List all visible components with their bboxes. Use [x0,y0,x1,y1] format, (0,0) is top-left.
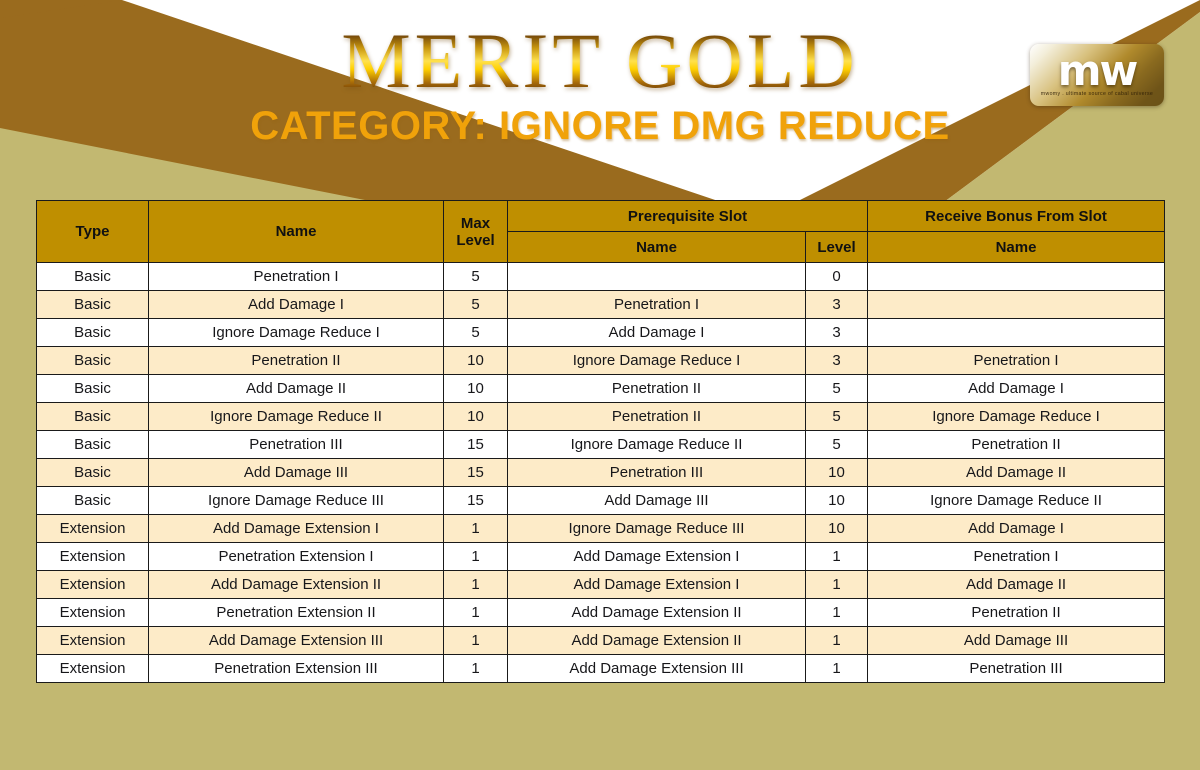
cell-type: Basic [37,403,149,431]
table-row: ExtensionAdd Damage Extension III1Add Da… [37,627,1165,655]
cell-name: Add Damage II [149,375,444,403]
cell-name: Ignore Damage Reduce I [149,319,444,347]
cell-max-level: 15 [444,487,508,515]
cell-prereq-name: Add Damage Extension I [508,571,806,599]
cell-prereq-name: Ignore Damage Reduce I [508,347,806,375]
col-header-receive-bonus-from-slot: Receive Bonus From Slot [868,201,1165,232]
table-row: BasicPenetration I50 [37,263,1165,291]
cell-max-level: 1 [444,515,508,543]
logo-tagline: mwomy . ultimate source of cabal univers… [1041,91,1153,97]
cell-prereq-level: 5 [806,375,868,403]
cell-name: Add Damage III [149,459,444,487]
cell-prereq-name: Add Damage Extension I [508,543,806,571]
cell-prereq-name: Penetration I [508,291,806,319]
cell-prereq-level: 10 [806,515,868,543]
cell-max-level: 1 [444,543,508,571]
cell-max-level: 10 [444,347,508,375]
cell-prereq-name: Add Damage I [508,319,806,347]
cell-type: Extension [37,599,149,627]
cell-type: Basic [37,291,149,319]
table-row: ExtensionPenetration Extension I1Add Dam… [37,543,1165,571]
cell-max-level: 1 [444,655,508,683]
cell-max-level: 1 [444,599,508,627]
cell-bonus-name [868,319,1165,347]
cell-prereq-name: Add Damage Extension II [508,599,806,627]
table-row: BasicAdd Damage I5Penetration I3 [37,291,1165,319]
cell-prereq-level: 5 [806,431,868,459]
cell-name: Penetration Extension III [149,655,444,683]
cell-prereq-name: Penetration III [508,459,806,487]
cell-bonus-name: Penetration I [868,543,1165,571]
cell-name: Add Damage I [149,291,444,319]
cell-bonus-name: Ignore Damage Reduce II [868,487,1165,515]
col-header-max-level-line1: Max [444,215,507,232]
cell-name: Add Damage Extension I [149,515,444,543]
col-header-max-level-line2: Level [444,232,507,249]
cell-max-level: 5 [444,263,508,291]
cell-prereq-level: 1 [806,571,868,599]
table-row: ExtensionAdd Damage Extension II1Add Dam… [37,571,1165,599]
cell-name: Penetration Extension II [149,599,444,627]
table-row: ExtensionPenetration Extension II1Add Da… [37,599,1165,627]
table-row: ExtensionAdd Damage Extension I1Ignore D… [37,515,1165,543]
cell-prereq-level: 1 [806,599,868,627]
cell-max-level: 5 [444,291,508,319]
merit-table: Type Name Max Level Prerequisite Slot Re… [36,200,1165,683]
cell-prereq-name: Ignore Damage Reduce II [508,431,806,459]
cell-prereq-level: 3 [806,291,868,319]
cell-prereq-level: 1 [806,543,868,571]
cell-prereq-level: 3 [806,347,868,375]
cell-type: Extension [37,543,149,571]
merit-table-container: Type Name Max Level Prerequisite Slot Re… [36,200,1164,683]
table-header-row-1: Type Name Max Level Prerequisite Slot Re… [37,201,1165,232]
cell-prereq-name: Penetration II [508,403,806,431]
col-header-type: Type [37,201,149,263]
cell-type: Basic [37,431,149,459]
table-row: BasicPenetration II10Ignore Damage Reduc… [37,347,1165,375]
cell-prereq-name: Add Damage Extension II [508,627,806,655]
cell-bonus-name: Penetration II [868,599,1165,627]
cell-name: Add Damage Extension II [149,571,444,599]
table-row: BasicAdd Damage III15Penetration III10Ad… [37,459,1165,487]
page-title: MERIT GOLD [341,20,858,102]
table-head: Type Name Max Level Prerequisite Slot Re… [37,201,1165,263]
cell-bonus-name: Add Damage III [868,627,1165,655]
cell-prereq-level: 10 [806,487,868,515]
table-row: BasicIgnore Damage Reduce II10Penetratio… [37,403,1165,431]
cell-bonus-name: Ignore Damage Reduce I [868,403,1165,431]
cell-max-level: 15 [444,431,508,459]
cell-prereq-level: 5 [806,403,868,431]
page-header: MERIT GOLD CATEGORY: IGNORE DMG REDUCE m… [0,0,1200,200]
cell-max-level: 5 [444,319,508,347]
cell-prereq-name: Add Damage Extension III [508,655,806,683]
cell-prereq-level: 0 [806,263,868,291]
cell-max-level: 10 [444,403,508,431]
cell-bonus-name [868,263,1165,291]
col-header-prereq-level: Level [806,232,868,263]
cell-max-level: 10 [444,375,508,403]
cell-name: Penetration III [149,431,444,459]
cell-max-level: 1 [444,571,508,599]
table-row: BasicIgnore Damage Reduce I5Add Damage I… [37,319,1165,347]
cell-type: Basic [37,459,149,487]
table-row: BasicIgnore Damage Reduce III15Add Damag… [37,487,1165,515]
table-row: BasicAdd Damage II10Penetration II5Add D… [37,375,1165,403]
cell-prereq-level: 1 [806,627,868,655]
table-body: BasicPenetration I50BasicAdd Damage I5Pe… [37,263,1165,683]
cell-type: Basic [37,347,149,375]
cell-name: Add Damage Extension III [149,627,444,655]
category-subtitle: CATEGORY: IGNORE DMG REDUCE [0,104,1200,149]
cell-prereq-level: 10 [806,459,868,487]
cell-max-level: 1 [444,627,508,655]
cell-type: Extension [37,571,149,599]
table-row: ExtensionPenetration Extension III1Add D… [37,655,1165,683]
col-header-max-level: Max Level [444,201,508,263]
mw-logo: mw mwomy . ultimate source of cabal univ… [1030,44,1164,106]
cell-name: Ignore Damage Reduce III [149,487,444,515]
cell-name: Ignore Damage Reduce II [149,403,444,431]
col-header-prerequisite-slot: Prerequisite Slot [508,201,868,232]
cell-prereq-level: 1 [806,655,868,683]
cell-type: Extension [37,515,149,543]
col-header-name: Name [149,201,444,263]
cell-type: Extension [37,655,149,683]
cell-type: Basic [37,375,149,403]
cell-name: Penetration Extension I [149,543,444,571]
cell-bonus-name: Penetration I [868,347,1165,375]
cell-type: Extension [37,627,149,655]
cell-max-level: 15 [444,459,508,487]
title-block: MERIT GOLD CATEGORY: IGNORE DMG REDUCE [0,20,1200,149]
cell-name: Penetration II [149,347,444,375]
cell-prereq-level: 3 [806,319,868,347]
cell-bonus-name: Add Damage II [868,459,1165,487]
cell-bonus-name: Add Damage I [868,515,1165,543]
cell-bonus-name: Add Damage II [868,571,1165,599]
cell-prereq-name [508,263,806,291]
cell-prereq-name: Add Damage III [508,487,806,515]
cell-type: Basic [37,487,149,515]
cell-bonus-name: Penetration II [868,431,1165,459]
table-row: BasicPenetration III15Ignore Damage Redu… [37,431,1165,459]
cell-prereq-name: Penetration II [508,375,806,403]
col-header-prereq-name: Name [508,232,806,263]
cell-prereq-name: Ignore Damage Reduce III [508,515,806,543]
cell-type: Basic [37,263,149,291]
logo-wordmark: mw [1058,53,1137,89]
cell-type: Basic [37,319,149,347]
cell-name: Penetration I [149,263,444,291]
col-header-bonus-name: Name [868,232,1165,263]
cell-bonus-name [868,291,1165,319]
cell-bonus-name: Add Damage I [868,375,1165,403]
cell-bonus-name: Penetration III [868,655,1165,683]
